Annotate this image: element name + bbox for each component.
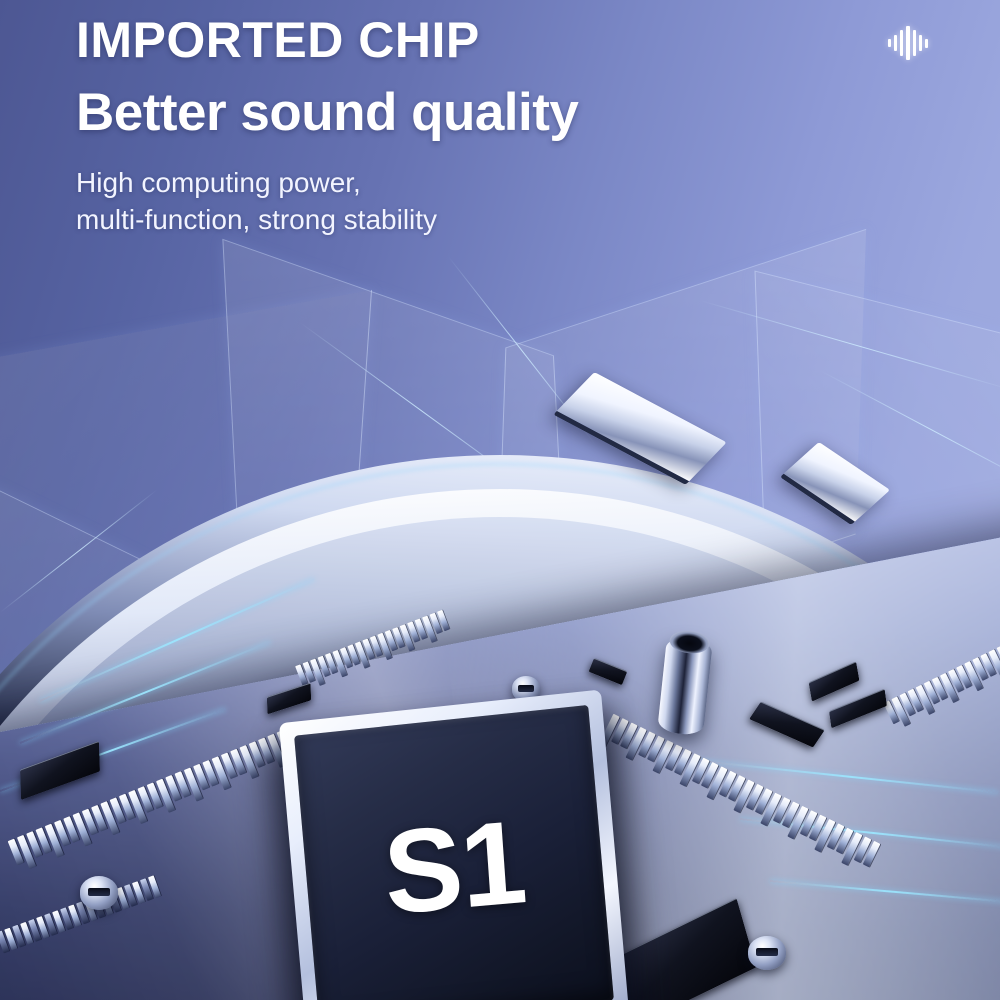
sound-wave-bar: [888, 39, 891, 47]
sound-wave-icon: [888, 26, 928, 60]
sound-wave-bar: [900, 30, 903, 56]
sound-wave-bar: [894, 35, 897, 51]
page-subtitle: Better sound quality: [76, 85, 716, 141]
chip-die: S1: [294, 705, 614, 1000]
sound-wave-bar: [925, 39, 928, 48]
copy-block: IMPORTED CHIP Better sound quality High …: [76, 14, 716, 238]
board-screw: [80, 876, 118, 910]
description-line-2: multi-function, strong stability: [76, 202, 716, 238]
sound-wave-bar: [913, 30, 916, 56]
s1-processor-chip: S1: [279, 689, 629, 1000]
product-banner: S1 IMPORTED CHIP Better sound quality Hi…: [0, 0, 1000, 1000]
chip-bezel: S1: [279, 689, 629, 1000]
page-title: IMPORTED CHIP: [76, 14, 716, 67]
description-line-1: High computing power,: [76, 165, 716, 201]
board-screw: [748, 936, 786, 970]
sound-wave-bar: [906, 26, 909, 60]
sound-wave-bar: [919, 35, 922, 51]
description-text: High computing power, multi-function, st…: [76, 165, 716, 238]
chip-label: S1: [380, 803, 528, 933]
